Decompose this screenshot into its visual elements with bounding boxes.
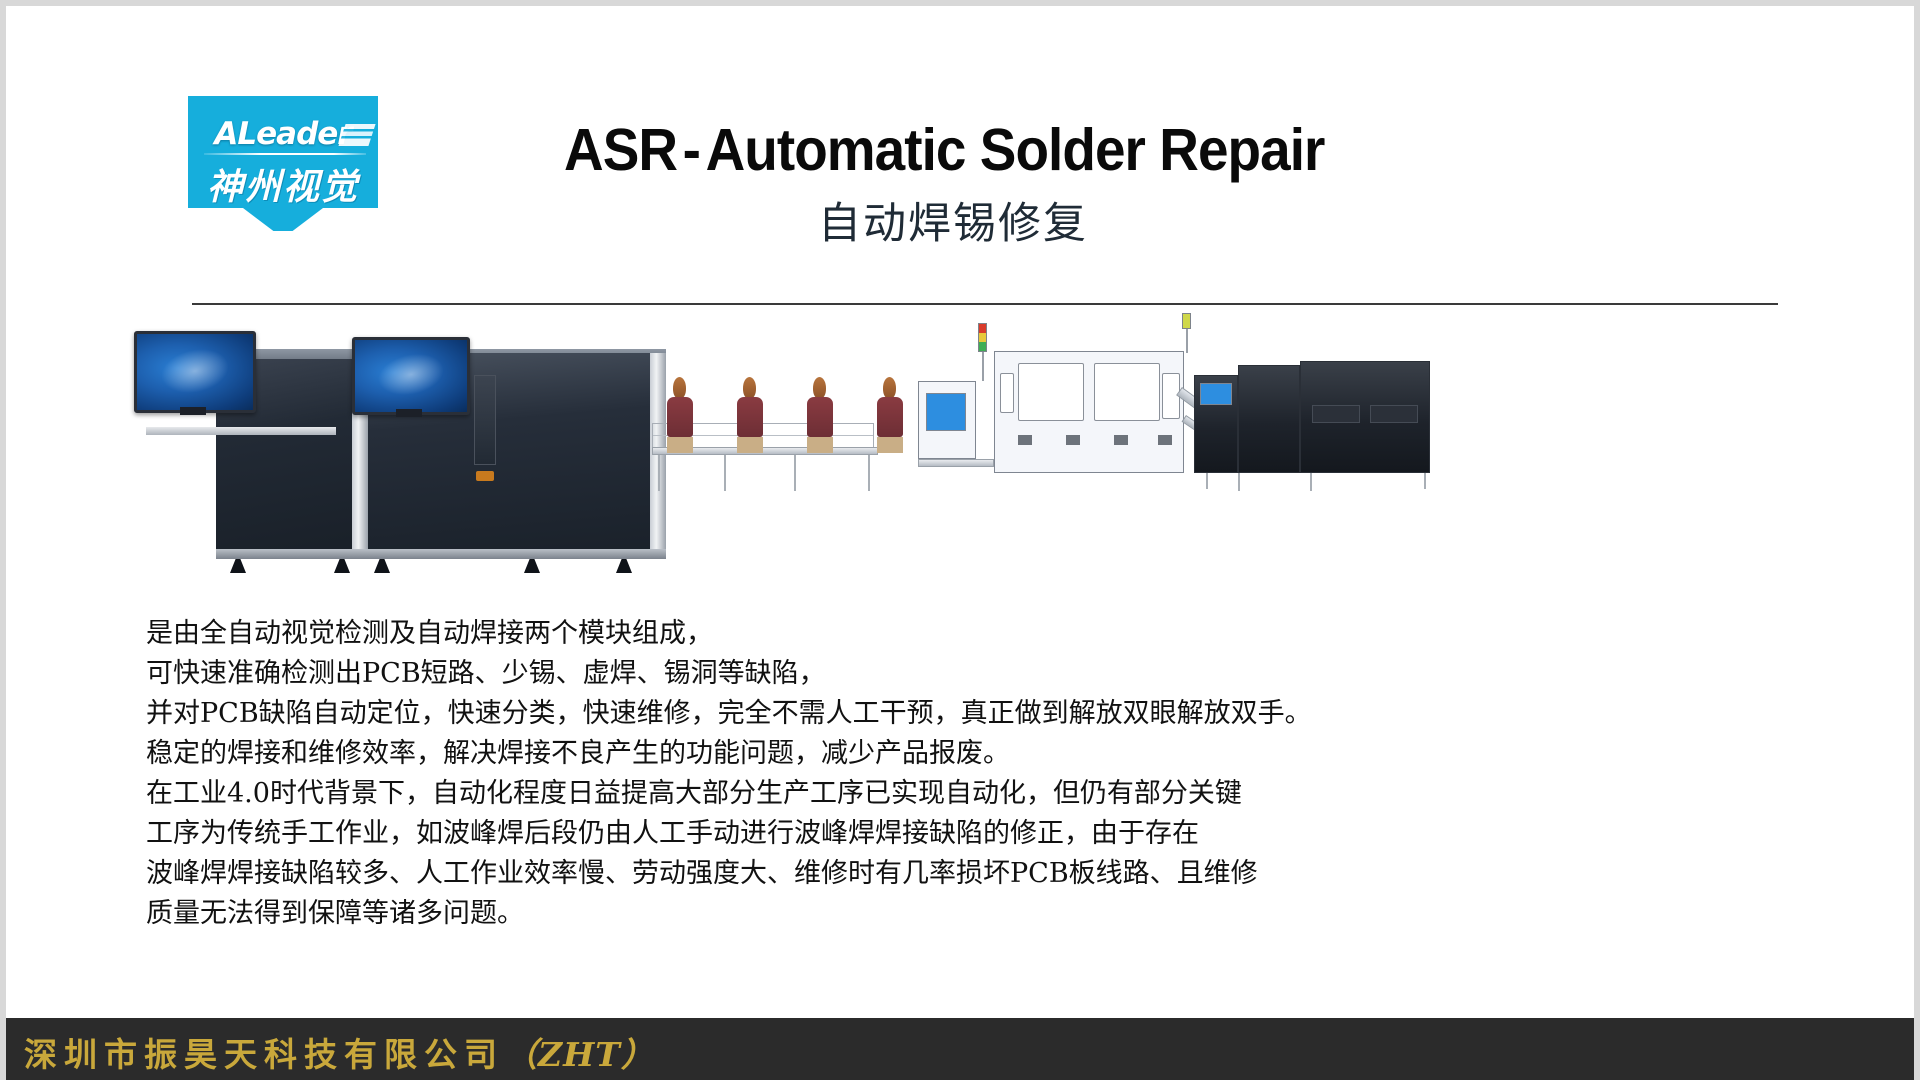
line-machine-side-panel xyxy=(1000,373,1014,413)
logo-background: ALeader 神州视觉 xyxy=(188,96,378,208)
page-title: ASR-Automatic Solder Repair xyxy=(564,116,1324,184)
machine-monitor-left xyxy=(134,331,256,413)
machine-control-column xyxy=(474,375,496,465)
line-dark-machine-panel xyxy=(1312,405,1360,423)
description-text: 是由全自动视觉检测及自动焊接两个模块组成， 可快速准确检测出PCB短路、少锡、虚… xyxy=(146,614,1786,934)
description-line: 在工业4.0时代背景下，自动化程度日益提高大部分生产工序已实现自动化，但仍有部分… xyxy=(146,774,1786,814)
title-name: Automatic Solder Repair xyxy=(706,117,1325,183)
description-line: 可快速准确检测出PCB短路、少锡、虚焊、锡洞等缺陷， xyxy=(146,654,1786,694)
line-leg xyxy=(1424,473,1426,489)
line-dark-machine-screen xyxy=(1200,383,1232,405)
line-machine-window-left xyxy=(1018,363,1084,421)
machine-foot xyxy=(230,559,246,573)
machine-foot xyxy=(334,559,350,573)
machine-monitor-right xyxy=(352,337,470,415)
logo-brand-cn: 神州视觉 xyxy=(188,158,378,210)
machine-foot xyxy=(524,559,540,573)
footer-company-abbr: （ZHT） xyxy=(504,1035,655,1074)
machine-conveyor xyxy=(146,427,336,435)
logo-bottom-tab xyxy=(243,208,323,231)
line-leg xyxy=(724,455,726,491)
title-dash: - xyxy=(677,117,706,183)
monitor-screen-right xyxy=(355,340,467,412)
logo-divider-line xyxy=(204,153,366,155)
line-machine-vent xyxy=(1066,435,1080,445)
line-machine-vent xyxy=(1018,435,1032,445)
description-line: 并对PCB缺陷自动定位，快速分类，快速维修，完全不需人工干预，真正做到解放双眼解… xyxy=(146,694,1786,734)
line-signal-tower xyxy=(978,323,987,352)
header-divider xyxy=(192,303,1778,305)
title-code: ASR xyxy=(564,117,677,183)
line-leg xyxy=(658,455,660,491)
description-line: 稳定的焊接和维修效率，解决焊接不良产生的功能问题，减少产品报废。 xyxy=(146,734,1786,774)
line-dark-machine-panel xyxy=(1370,405,1418,423)
line-beacon xyxy=(1182,313,1191,329)
machine-foot xyxy=(374,559,390,573)
machine-foot xyxy=(616,559,632,573)
description-line: 质量无法得到保障等诸多问题。 xyxy=(146,894,1786,934)
monitor-screen-left xyxy=(137,334,253,410)
line-machine-vent xyxy=(1158,435,1172,445)
line-machine-window-right xyxy=(1094,363,1160,421)
asr-machine-photo xyxy=(156,331,716,581)
description-line: 是由全自动视觉检测及自动焊接两个模块组成， xyxy=(146,614,1786,654)
line-leg xyxy=(868,455,870,491)
machine-amber-indicator xyxy=(476,471,494,481)
description-line: 工序为传统手工作业，如波峰焊后段仍由人工手动进行波峰焊焊接缺陷的修正，由于存在 xyxy=(146,814,1786,854)
description-line: 波峰焊焊接缺陷较多、人工作业效率慢、劳动强度大、维修时有几率损坏PCB板线路、且… xyxy=(146,854,1786,894)
footer-bar: 深圳市振昊天科技有限公司（ZHT） xyxy=(6,1018,1920,1080)
line-leg xyxy=(1206,473,1208,489)
page-subtitle: 自动焊锡修复 xyxy=(818,189,1088,251)
footer-company-cn: 深圳市振昊天科技有限公司 xyxy=(24,1035,504,1074)
slide-canvas: ALeader 神州视觉 ASR-Automatic Solder Repair… xyxy=(0,0,1920,1080)
line-machine-vent xyxy=(1114,435,1128,445)
production-line-diagram xyxy=(646,331,1456,496)
monitor-stand-right xyxy=(396,409,422,417)
line-leg xyxy=(794,455,796,491)
monitor-stand-left xyxy=(180,407,206,415)
line-tower-pole xyxy=(982,351,984,381)
line-conveyor-mid xyxy=(918,459,994,467)
machine-base xyxy=(216,549,666,559)
footer-company-name: 深圳市振昊天科技有限公司（ZHT） xyxy=(24,1028,655,1076)
company-logo[interactable]: ALeader 神州视觉 xyxy=(188,96,378,221)
line-aoi-display xyxy=(926,393,966,431)
line-tower-pole xyxy=(1186,325,1188,353)
line-dark-machine-mid xyxy=(1238,365,1300,473)
